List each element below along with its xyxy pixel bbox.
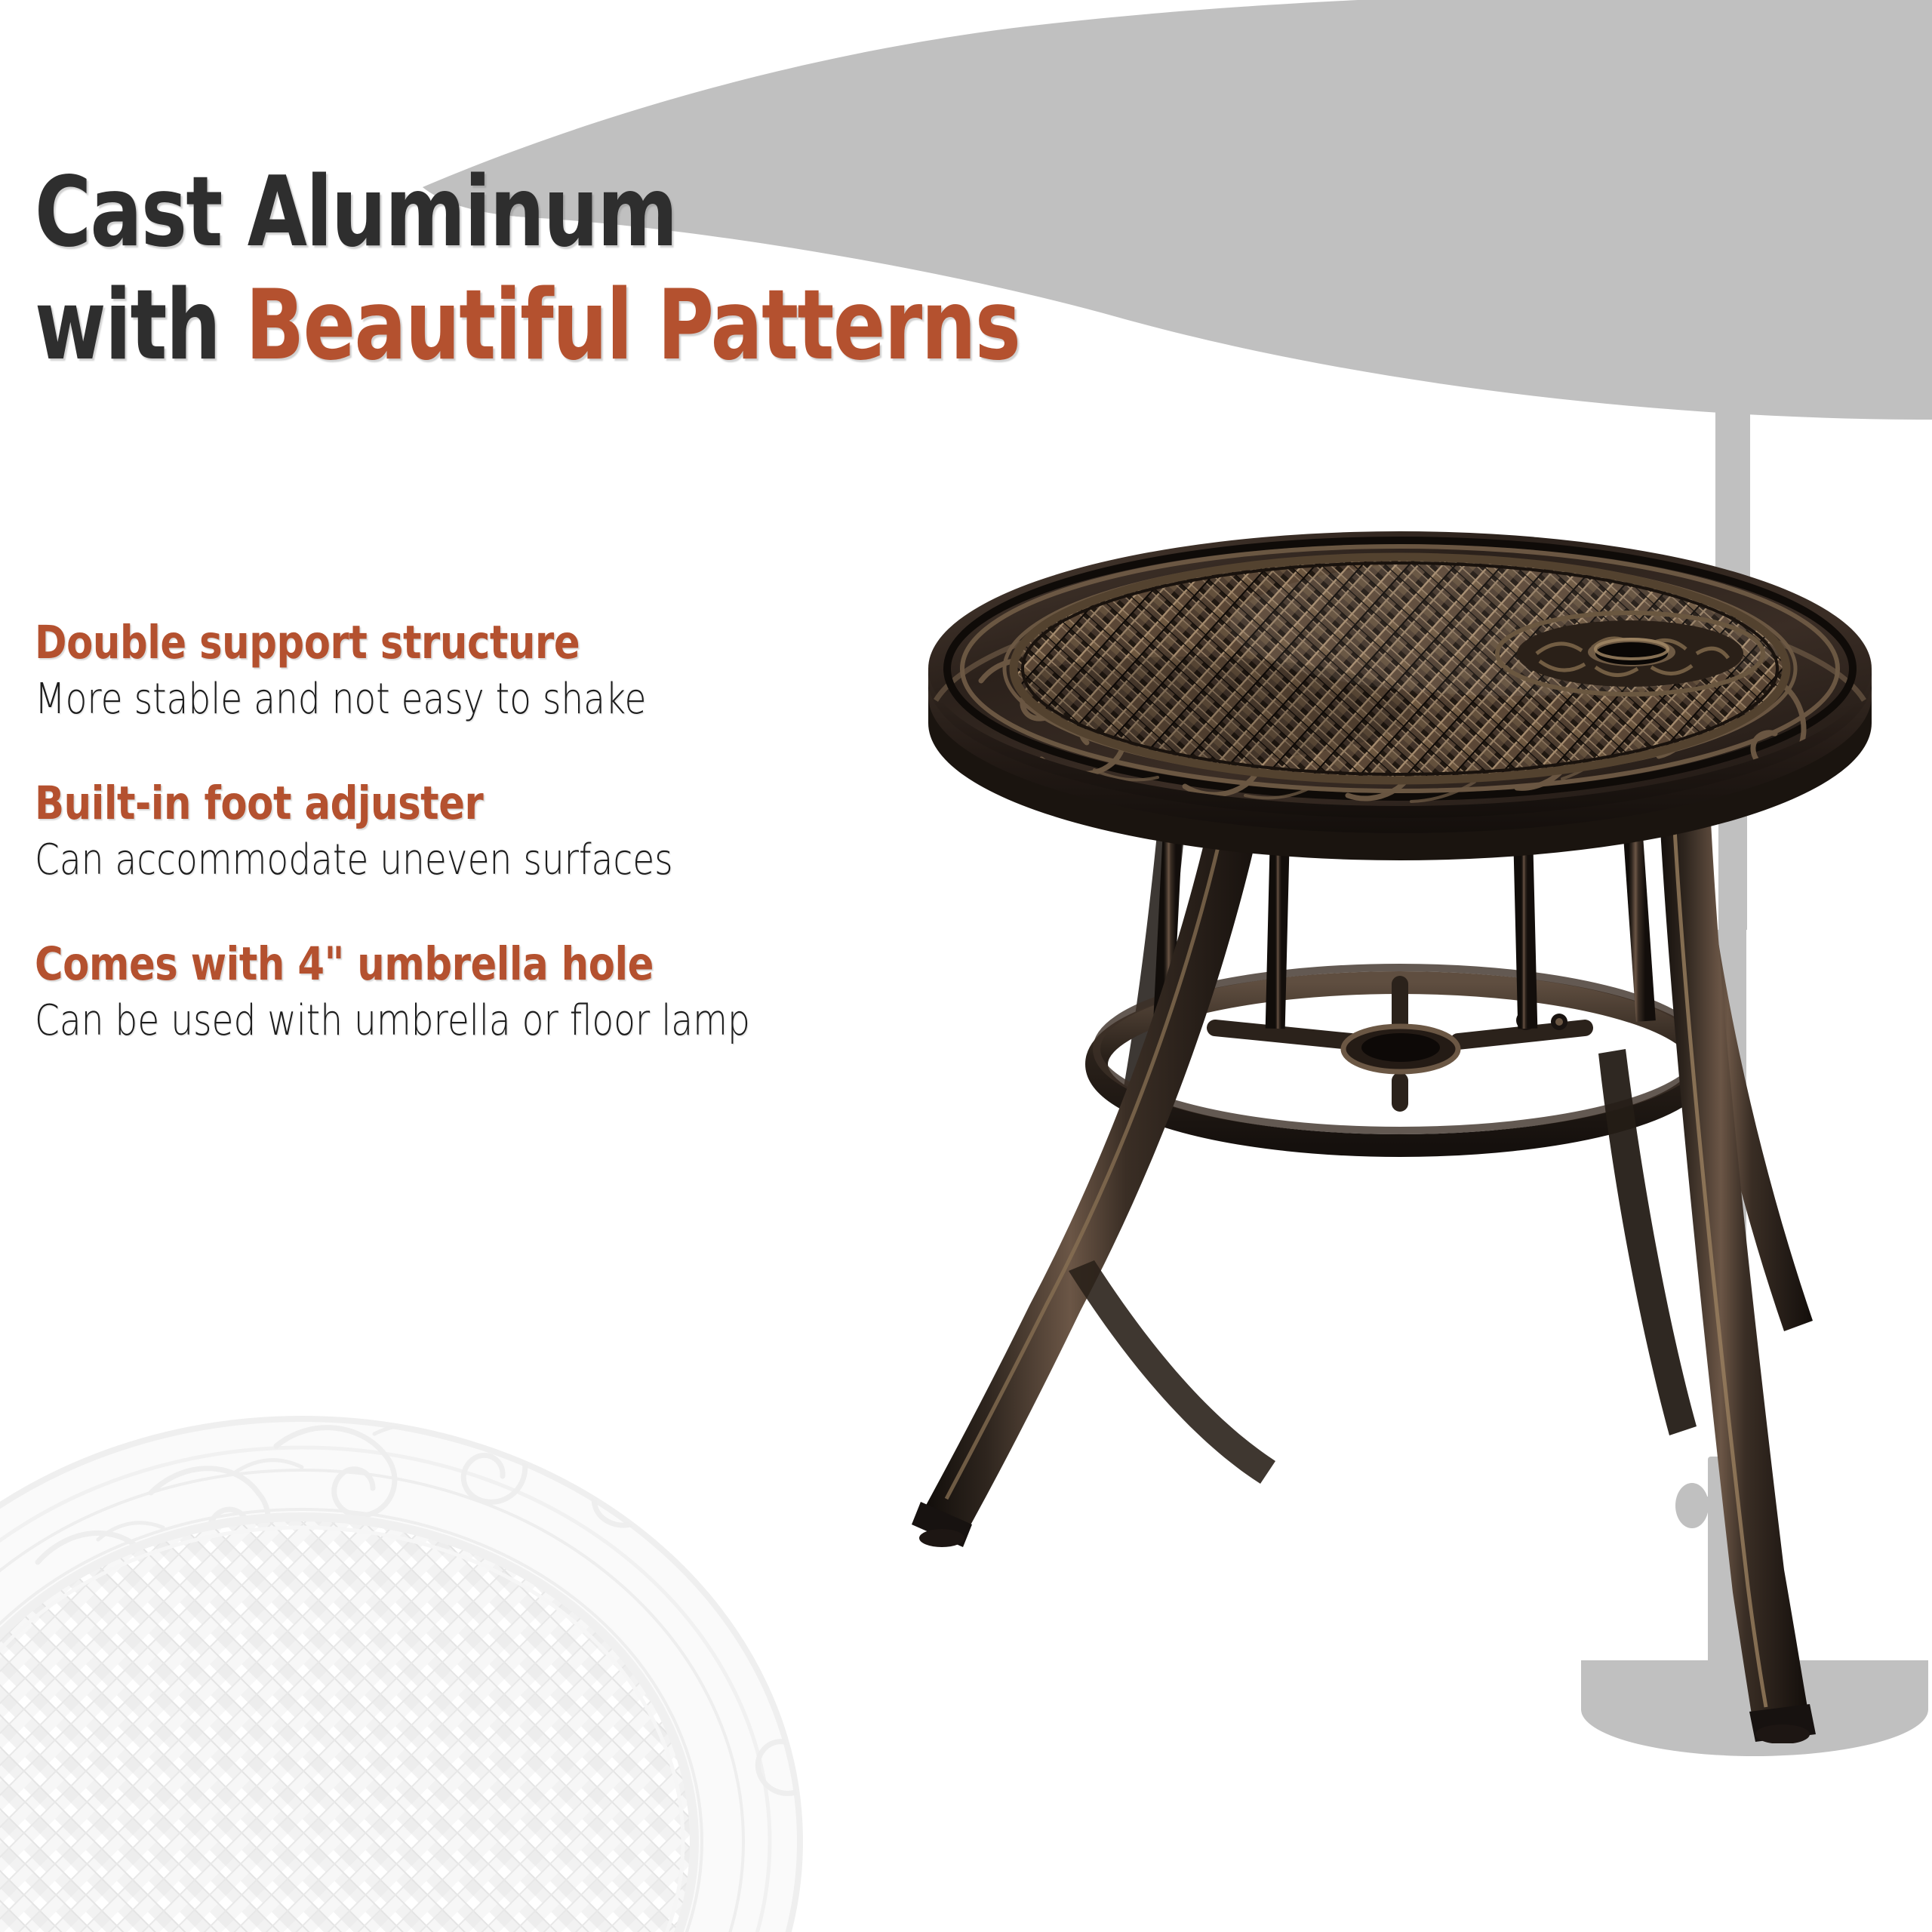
feature-item: Built-in foot adjuster Can accommodate u… (35, 780, 971, 883)
patio-table-product-image (868, 521, 1932, 1743)
feature-item: Double support structure More stable and… (35, 619, 971, 722)
table-legs (912, 759, 1816, 1743)
feature-title: Double support structure (35, 619, 821, 667)
feature-item: Comes with 4" umbrella hole Can be used … (35, 940, 971, 1044)
umbrella-hole (1497, 613, 1763, 694)
headline-prefix: with (35, 269, 245, 382)
table-top (928, 531, 1872, 860)
headline-line-2: with Beautiful Patterns (35, 278, 1303, 374)
support-ring (1097, 770, 1703, 1146)
headline-line-1: Cast Aluminum (35, 165, 1303, 261)
headline: Cast Aluminum with Beautiful Patterns (35, 165, 1620, 374)
infographic-canvas: Cast Aluminum with Beautiful Patterns Do… (0, 0, 1932, 1932)
feature-subtitle: Can accommodate uneven surfaces (35, 838, 821, 883)
feature-subtitle: More stable and not easy to shake (35, 678, 821, 722)
feature-title: Built-in foot adjuster (35, 780, 821, 828)
feature-subtitle: Can be used with umbrella or floor lamp (35, 999, 821, 1044)
feature-title: Comes with 4" umbrella hole (35, 940, 821, 989)
watermark-tabletop-graphic (0, 1313, 868, 1932)
feature-list: Double support structure More stable and… (35, 619, 971, 1044)
headline-accent: Beautiful Patterns (245, 269, 1020, 382)
